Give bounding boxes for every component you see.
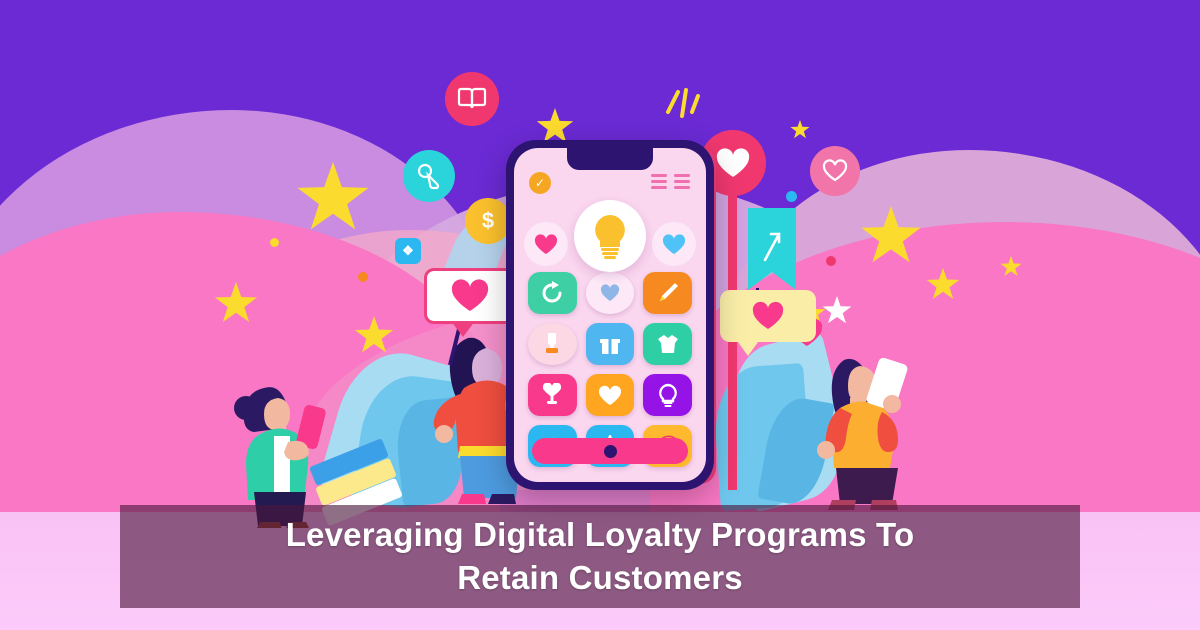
phone-mockup: ✓ xyxy=(506,140,714,490)
coin-badge: $ xyxy=(465,198,511,244)
heart-ring-badge xyxy=(810,146,860,196)
illustration-canvas: $ ❖ xyxy=(0,0,1200,630)
cyan-dot-icon xyxy=(786,191,797,202)
ribbon-arrow-icon xyxy=(759,226,785,266)
sparkle-icon xyxy=(662,82,702,124)
ghost-heart-center-icon[interactable] xyxy=(586,272,635,314)
home-indicator[interactable] xyxy=(532,438,688,464)
title-overlay: Leveraging Digital Loyalty Programs To R… xyxy=(120,505,1080,608)
title-line-2: Retain Customers xyxy=(457,557,743,599)
gift-app-icon[interactable] xyxy=(586,323,635,365)
heart-app-icon[interactable] xyxy=(586,374,635,416)
heart-outline-icon xyxy=(822,159,848,183)
refresh-app-icon[interactable] xyxy=(528,272,577,314)
book-heart-badge xyxy=(445,72,499,126)
person-left-woman xyxy=(216,368,336,528)
yellow-dot-icon xyxy=(270,238,279,247)
gift-small-badge: ❖ xyxy=(395,238,421,264)
edit-pencil-app-icon[interactable] xyxy=(643,272,692,314)
home-button[interactable] xyxy=(604,445,617,458)
open-book-icon xyxy=(457,87,487,111)
ghost-heart-left-icon xyxy=(524,222,568,266)
check-badge-icon: ✓ xyxy=(529,172,551,194)
white-heart-bubble xyxy=(424,268,516,324)
price-tag-icon xyxy=(415,162,443,190)
phone-screen: ✓ xyxy=(514,148,706,482)
trophy-app-icon[interactable] xyxy=(528,323,577,365)
heart-icon xyxy=(751,301,785,331)
lightbulb-icon xyxy=(574,200,646,272)
shirt-app-icon[interactable] xyxy=(643,323,692,365)
notch xyxy=(567,148,653,170)
yellow-heart-bubble xyxy=(720,290,816,342)
menu-lines-icon xyxy=(651,174,690,189)
ghost-heart-right-icon xyxy=(652,222,696,266)
tag-badge xyxy=(403,150,455,202)
heart-icon xyxy=(715,147,751,179)
red-dot-icon xyxy=(826,256,836,266)
person-right-reader xyxy=(810,342,930,512)
heart-trophy-icon[interactable] xyxy=(528,374,577,416)
title-line-1: Leveraging Digital Loyalty Programs To xyxy=(286,514,915,556)
idea-bulb-app-icon[interactable] xyxy=(643,374,692,416)
heart-icon xyxy=(450,279,490,313)
orange-dot-icon xyxy=(358,272,368,282)
